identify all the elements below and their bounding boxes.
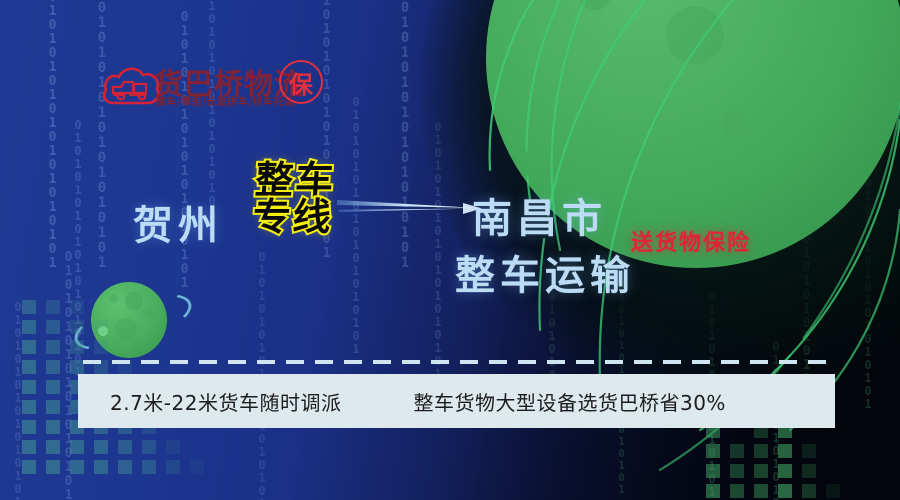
binary-column: 01010101010101010101 [46, 0, 59, 270]
banner-left-text: 2.7米-22米货车随时调派 [110, 387, 341, 416]
route-badge: 整车 专线 [251, 162, 336, 236]
binary-column: 01010101010101010101 [350, 95, 362, 355]
crater [666, 6, 724, 64]
binary-column: 01010101010101010101 [398, 0, 412, 270]
destination-city: 南昌市 [472, 186, 607, 244]
square-grid-right [706, 424, 840, 500]
destination-service: 整车运输 [455, 243, 635, 301]
dashed-divider [83, 360, 833, 364]
bottom-banner: 2.7米-22米货车随时调派 整车货物大型设备选货巴桥省30% [78, 374, 835, 428]
origin-city: 贺州 [133, 193, 223, 251]
banner-right-text: 整车货物大型设备选货巴桥省30% [413, 387, 725, 416]
crater [722, 110, 748, 136]
route-badge-line2: 专线 [251, 199, 334, 236]
brand-subtitle: 整车/零担/长途拼车/轿车托运 [156, 93, 294, 108]
insurance-seal-icon: 保 [279, 60, 323, 104]
insurance-note: 送货物保险 [631, 225, 751, 257]
poster-canvas: 01010101010101010101 0101010101010101010… [0, 0, 900, 500]
crater [578, 0, 612, 10]
binary-column: 01010101010101010101 [95, 0, 109, 270]
route-badge-line1: 整车 [254, 162, 337, 199]
arrow-right-icon [337, 196, 482, 222]
truck-cloud-icon [100, 59, 162, 111]
